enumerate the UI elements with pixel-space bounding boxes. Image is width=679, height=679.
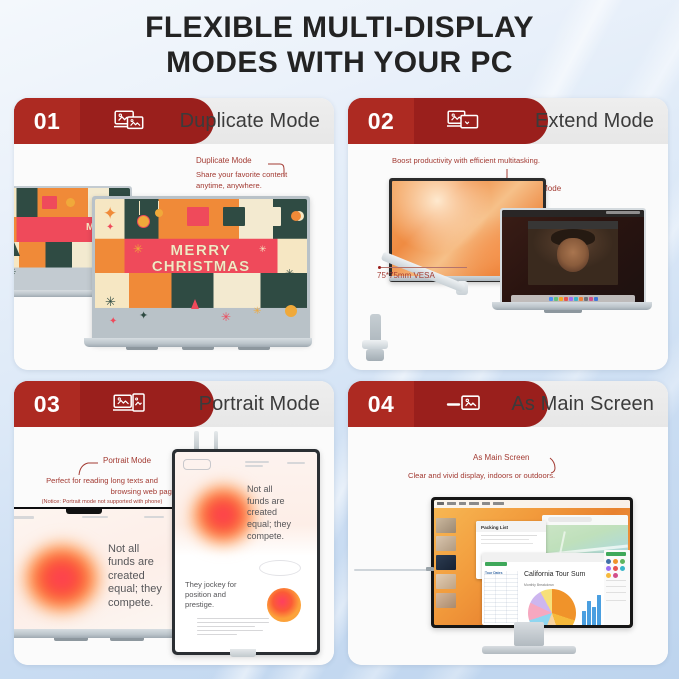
notes-line: [481, 535, 537, 536]
dock-icon: [574, 297, 578, 301]
panel-number-wrap: 02: [348, 98, 414, 144]
portrait-notice: (Notice: Portrait mode not supported wit…: [18, 499, 186, 506]
monitor-arm-clamp: [362, 340, 388, 349]
star-icon: ✳: [133, 243, 143, 255]
body-text-line: [197, 622, 269, 623]
snowflake-icon: ✳: [14, 268, 16, 278]
quote-line-3: created: [247, 507, 291, 519]
portrait-display-screen: Not all funds are created equal; they co…: [175, 452, 317, 652]
panel-as-main-screen: 04 As Main Screen As Main Screen Clear a: [348, 381, 668, 665]
dock-icon: [584, 297, 588, 301]
annotation-label: As Main Screen: [473, 453, 529, 463]
photo-thumbnail: [436, 536, 456, 551]
annotation-text-line-1: Perfect for reading long texts and: [22, 476, 182, 485]
maps-search-field[interactable]: [548, 517, 592, 522]
panel-extend-mode: 02 Extend Mode Boost productivity with e…: [348, 98, 668, 370]
swatch[interactable]: [606, 559, 611, 564]
stand-post-left: [194, 431, 199, 449]
annotation-text-line-2: browsing web pages.: [22, 487, 182, 496]
inspector-row: [606, 580, 626, 581]
notes-line: [481, 539, 529, 540]
annotation-text: Clear and vivid display, indoors or outd…: [408, 471, 555, 480]
panel-title: Duplicate Mode: [180, 98, 320, 144]
primary-laptop: ✦ ✦ MERRY CHRISTMAS ✳ ✳: [92, 196, 310, 344]
quote2-line-1: They jockey for: [185, 580, 237, 590]
panel-title: As Main Screen: [511, 381, 654, 427]
laptop: [500, 208, 646, 306]
panel-body: Boost productivity with efficient multit…: [348, 144, 668, 370]
body-text-line: [197, 626, 255, 627]
dock-icon: [559, 297, 563, 301]
gift-icon: [42, 196, 57, 209]
quote-line-3: created: [108, 570, 162, 583]
menubar-item: [469, 502, 479, 505]
cable-connector: [426, 567, 434, 571]
screen-text-line-1: MERRY: [95, 243, 307, 259]
dock-icon: [594, 297, 598, 301]
quote2-line-2: position and: [185, 590, 237, 600]
gift-icon: [223, 207, 245, 226]
annotation-label: Portrait Mode: [103, 456, 151, 466]
gradient-blob: [18, 535, 122, 631]
gradient-circle: [267, 588, 301, 622]
menubar-status-icons: [606, 211, 640, 214]
main-monitor: Packing List Tour Dates California Tour …: [431, 497, 633, 628]
panel-header: 02 Extend Mode: [348, 98, 668, 144]
decorative-ellipse: [259, 560, 301, 576]
star-icon: ✦: [103, 205, 117, 222]
gift-icon: [259, 207, 281, 226]
pie-chart: [528, 589, 576, 626]
star-icon: ✳: [259, 245, 267, 254]
spreadsheet-toolbar: [482, 553, 610, 562]
star-icon: ✦: [14, 196, 15, 209]
laptop-foot: [54, 638, 88, 641]
swatch[interactable]: [606, 573, 611, 578]
laptop-base: [492, 302, 652, 310]
tree-icon: [191, 299, 199, 309]
chart-subtitle: Monthly Breakdown: [524, 583, 554, 587]
connection-cable: [354, 569, 434, 571]
notes-line: [481, 543, 533, 544]
panel-header: 04 As Main Screen: [348, 381, 668, 427]
panel-number-wrap: 03: [14, 381, 80, 427]
spreadsheet-header: Tour Dates: [485, 571, 502, 575]
quote-line-4: equal; they: [108, 583, 162, 596]
menubar-item: [447, 502, 456, 505]
annotation-pointer-icon: [78, 459, 100, 477]
photo-thumbnail: [436, 555, 456, 570]
panel-number-wrap: 01: [14, 98, 80, 144]
laptop-foot: [126, 347, 158, 350]
laptop-foot: [238, 347, 270, 350]
swatch[interactable]: [613, 566, 618, 571]
nav-placeholder: [245, 465, 263, 467]
star-icon: ✦: [139, 311, 148, 322]
panel-number: 01: [34, 108, 61, 135]
swatch[interactable]: [613, 559, 618, 564]
color-swatches[interactable]: [606, 559, 628, 578]
monitor-screen: Packing List Tour Dates California Tour …: [434, 500, 630, 625]
quote-line-2: funds are: [108, 556, 162, 569]
infographic-page: FLEXIBLE MULTI-DISPLAY MODES WITH YOUR P…: [0, 0, 679, 679]
dock-icon: [589, 297, 593, 301]
spreadsheet-window: Tour Dates California Tour Sum Monthly B…: [482, 553, 610, 626]
tree-icon: [14, 242, 20, 256]
dock-icon: [564, 297, 568, 301]
menubar-item: [437, 502, 444, 505]
vesa-leader-line: [381, 267, 467, 268]
menubar-item: [482, 502, 490, 505]
quote-line-2: funds are: [247, 496, 291, 508]
annotation-text-line-2: anytime, anywhere.: [196, 181, 262, 190]
portrait-screens-icon: [80, 392, 214, 416]
monitor-stand-neck: [514, 622, 544, 646]
laptop: Not all funds are created equal; they co…: [14, 507, 184, 633]
laptop-quote: Not all funds are created equal; they co…: [108, 543, 162, 610]
laptop-foot: [110, 638, 144, 641]
star-icon: ✳: [253, 307, 261, 317]
ornament-string: [158, 201, 159, 209]
panel-header: 03 Portrait Mode: [14, 381, 334, 427]
laptop-foot: [544, 310, 582, 313]
ornament-icon: [155, 209, 163, 217]
quote-line-1: Not all: [247, 484, 291, 496]
laptop-screen: Not all funds are created equal; they co…: [14, 509, 182, 631]
ornament-string: [139, 201, 140, 215]
spreadsheet-tab[interactable]: [485, 562, 507, 566]
quote2-line-3: prestige.: [185, 600, 237, 610]
display-stand: [230, 649, 256, 657]
snowflake-icon: ✳: [105, 295, 116, 308]
laptop-foot: [182, 347, 214, 350]
annotation-text-line-1: Share your favorite content: [196, 170, 287, 179]
spreadsheet-grid: [484, 571, 518, 623]
photo-thumbnail: [436, 574, 456, 589]
menubar-items: [437, 502, 504, 505]
annotation-label: Duplicate Mode: [196, 156, 252, 166]
bar: [587, 601, 591, 626]
swatch[interactable]: [613, 573, 618, 578]
panel-headline-text: Boost productivity with efficient multit…: [392, 156, 540, 165]
nav-placeholder: [287, 462, 305, 464]
laptop-base: [14, 629, 188, 638]
dock-icon: [579, 297, 583, 301]
portrait-face: [557, 238, 590, 273]
nav-placeholder: [82, 516, 108, 518]
panel-body: Portrait Mode Perfect for reading long t…: [14, 427, 334, 665]
inspector-panel: [604, 550, 630, 625]
nav-placeholder: [144, 516, 164, 518]
panel-portrait-mode: 03 Portrait Mode: [14, 381, 334, 665]
quote-line-4: equal; they: [247, 519, 291, 531]
screen-text: MERRY CHRISTMAS: [95, 243, 307, 275]
extend-screens-icon: [414, 109, 548, 133]
notes-title: Packing List: [481, 525, 508, 530]
bar: [597, 595, 601, 626]
panel-badge: 02: [348, 98, 548, 144]
dock-icon: [554, 297, 558, 301]
portrait-quote: Not all funds are created equal; they co…: [247, 484, 291, 542]
ornament-icon: [66, 198, 75, 207]
panel-number: 04: [368, 391, 395, 418]
vesa-label: 75*75mm VESA: [377, 271, 435, 281]
star-icon: ✦: [109, 317, 117, 327]
inspector-row: [606, 600, 626, 601]
panel-number: 02: [368, 108, 395, 135]
panel-duplicate-mode: 01 Duplicate Mode Dupli: [14, 98, 334, 370]
gift-icon: [187, 207, 209, 226]
monitor-arm-base: [366, 349, 384, 361]
nav-placeholder: [245, 461, 269, 463]
quote-line-1: Not all: [108, 543, 162, 556]
panel-number-wrap: 04: [348, 381, 414, 427]
portrait-quote-2: They jockey for position and prestige.: [185, 580, 237, 610]
bar-chart: [582, 593, 601, 626]
body-text-line: [197, 630, 263, 631]
nav-placeholder: [14, 516, 34, 519]
nav-pill: [183, 459, 211, 470]
menubar-item: [459, 502, 466, 505]
stand-post-right: [214, 431, 218, 449]
swatch[interactable]: [620, 559, 625, 564]
moon-icon: [291, 211, 301, 221]
dock-icon: [549, 297, 553, 301]
body-text-line: [197, 634, 237, 635]
panel-body: As Main Screen Clear and vivid display, …: [348, 427, 668, 665]
quote-line-5: compete.: [108, 597, 162, 610]
photo-thumbnail: [436, 518, 456, 533]
sheet-title: California Tour Sum: [524, 571, 585, 578]
page-title-line-2: MODES WITH YOUR PC: [0, 45, 679, 80]
panel-title: Extend Mode: [535, 98, 654, 144]
dock-icon: [569, 297, 573, 301]
swatch[interactable]: [606, 566, 611, 571]
quote-line-5: compete.: [247, 531, 291, 543]
panel-title: Portrait Mode: [199, 381, 320, 427]
monitor-stand-base: [482, 646, 576, 654]
screen-text-line-2: CHRISTMAS: [95, 259, 307, 275]
bar: [592, 607, 596, 626]
snowflake-icon: ✳: [221, 311, 231, 323]
panel-badge: 03: [14, 381, 214, 427]
star-icon: ✳: [285, 269, 294, 280]
laptop-screen: [502, 210, 644, 304]
ornament-icon: [137, 215, 150, 228]
inspector-tab[interactable]: [606, 552, 626, 556]
inspector-row: [606, 586, 626, 587]
swatch[interactable]: [620, 566, 625, 571]
photo-thumbnail: [436, 593, 456, 608]
laptop-notch: [66, 509, 102, 514]
photo-window-titlebar: [528, 221, 619, 229]
portrait-display: Not all funds are created equal; they co…: [172, 449, 320, 655]
menubar-item: [493, 502, 504, 505]
panel-body: Duplicate Mode Share your favorite conte…: [14, 144, 334, 370]
bar: [582, 611, 586, 626]
panel-number: 03: [34, 391, 61, 418]
ornament-icon: [285, 305, 297, 317]
panel-header: 01 Duplicate Mode: [14, 98, 334, 144]
inspector-row: [606, 592, 626, 593]
star-icon: ✦: [106, 223, 114, 233]
body-text-line: [197, 618, 269, 619]
photo-editor-window: [528, 221, 619, 285]
primary-laptop-base: [84, 338, 312, 347]
page-title-line-1: FLEXIBLE MULTI-DISPLAY: [145, 11, 534, 44]
page-title: FLEXIBLE MULTI-DISPLAY MODES WITH YOUR P…: [0, 10, 679, 81]
